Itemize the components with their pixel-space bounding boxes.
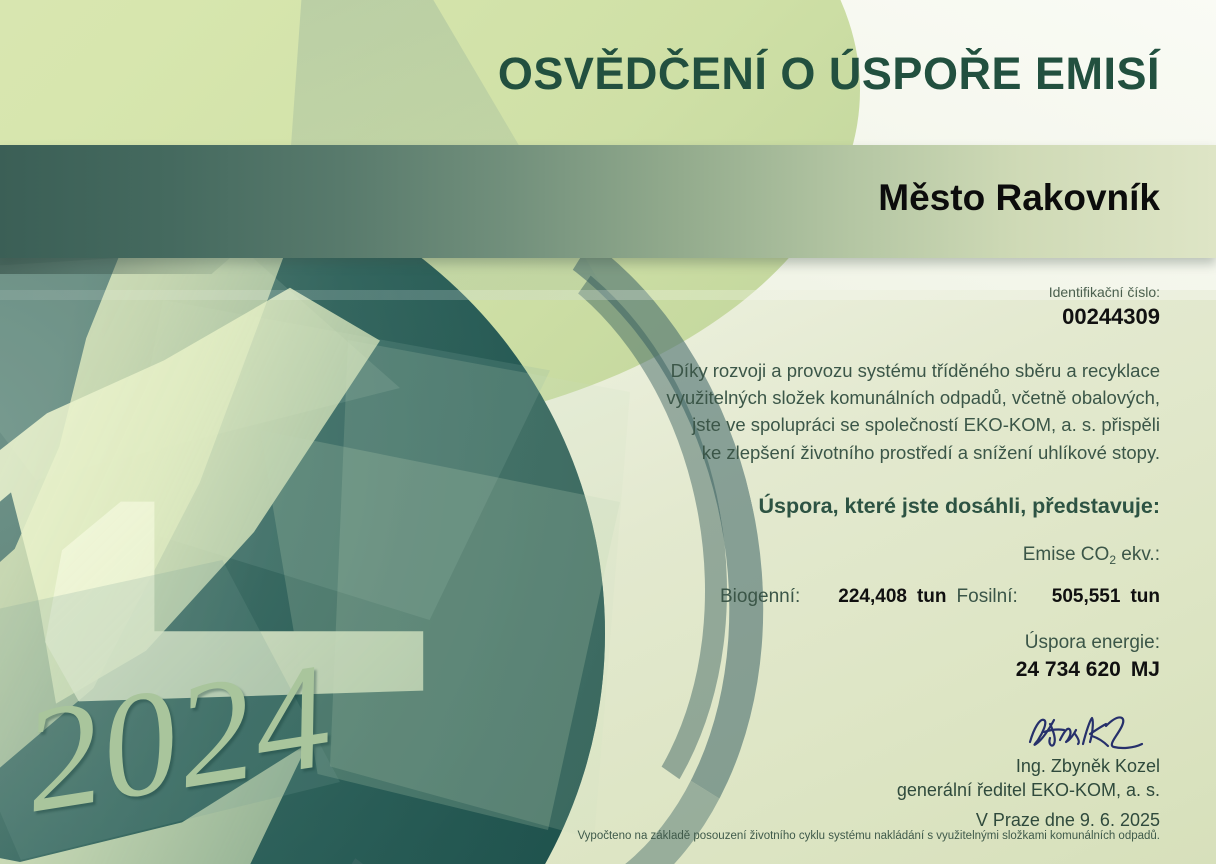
signature-block: Ing. Zbyněk Kozel generální ředitel EKO-…	[660, 710, 1160, 832]
certificate-content: Identifikační číslo: 00244309 Díky rozvo…	[660, 282, 1160, 831]
body-paragraph: Díky rozvoji a provozu systému tříděného…	[660, 357, 1160, 466]
body-line-1: Díky rozvoji a provozu systému tříděného…	[660, 357, 1160, 384]
handwritten-signature-icon	[1020, 710, 1152, 754]
footnote: Vypočteno na základě posouzení životního…	[577, 830, 1160, 842]
co2-subscript: 2	[1109, 553, 1116, 567]
signatory-role: generální ředitel EKO-KOM, a. s.	[660, 778, 1160, 802]
co2-label-suffix: ekv.:	[1116, 544, 1160, 565]
energy-savings-label: Úspora energie:	[660, 632, 1160, 654]
biogenic-value: 224,408	[838, 586, 907, 608]
body-line-3: jste ve spolupráci se společností EKO-KO…	[660, 411, 1160, 438]
fossil-unit: tun	[1130, 586, 1160, 608]
biogenic-unit: tun	[917, 586, 947, 608]
biogenic-label: Biogenní:	[720, 586, 800, 608]
page-title: OSVĚDČENÍ O ÚSPOŘE EMISÍ	[498, 48, 1160, 100]
fossil-label: Fosilní:	[957, 586, 1018, 608]
energy-number: 24 734 620	[1016, 658, 1121, 681]
energy-unit: MJ	[1131, 658, 1160, 681]
emission-figures-row: Biogenní: 224,408 tun Fosilní: 505,551 t…	[660, 586, 1160, 608]
emission-savings-certificate: 2024 OSVĚDČENÍ O ÚSPOŘE EMISÍ Město Rako…	[0, 0, 1216, 864]
identification-label: Identifikační číslo:	[660, 282, 1160, 303]
body-line-4: ke zlepšení životního prostředí a snížen…	[660, 439, 1160, 466]
co2-label-prefix: Emise CO	[1023, 544, 1110, 565]
recipient-name: Město Rakovník	[878, 177, 1160, 219]
savings-heading: Úspora, které jste dosáhli, představuje:	[660, 494, 1160, 519]
signatory-name: Ing. Zbyněk Kozel	[660, 754, 1160, 778]
body-line-2: využitelných složek komunálních odpadů, …	[660, 384, 1160, 411]
co2-equivalent-label: Emise CO2 ekv.:	[660, 544, 1160, 566]
signature-place-date: V Praze dne 9. 6. 2025	[660, 810, 1160, 831]
identification-number: 00244309	[660, 304, 1160, 330]
banner-notch-left	[0, 258, 230, 274]
fossil-value: 505,551	[1052, 586, 1121, 608]
energy-savings-value: 24 734 620MJ	[660, 658, 1160, 682]
